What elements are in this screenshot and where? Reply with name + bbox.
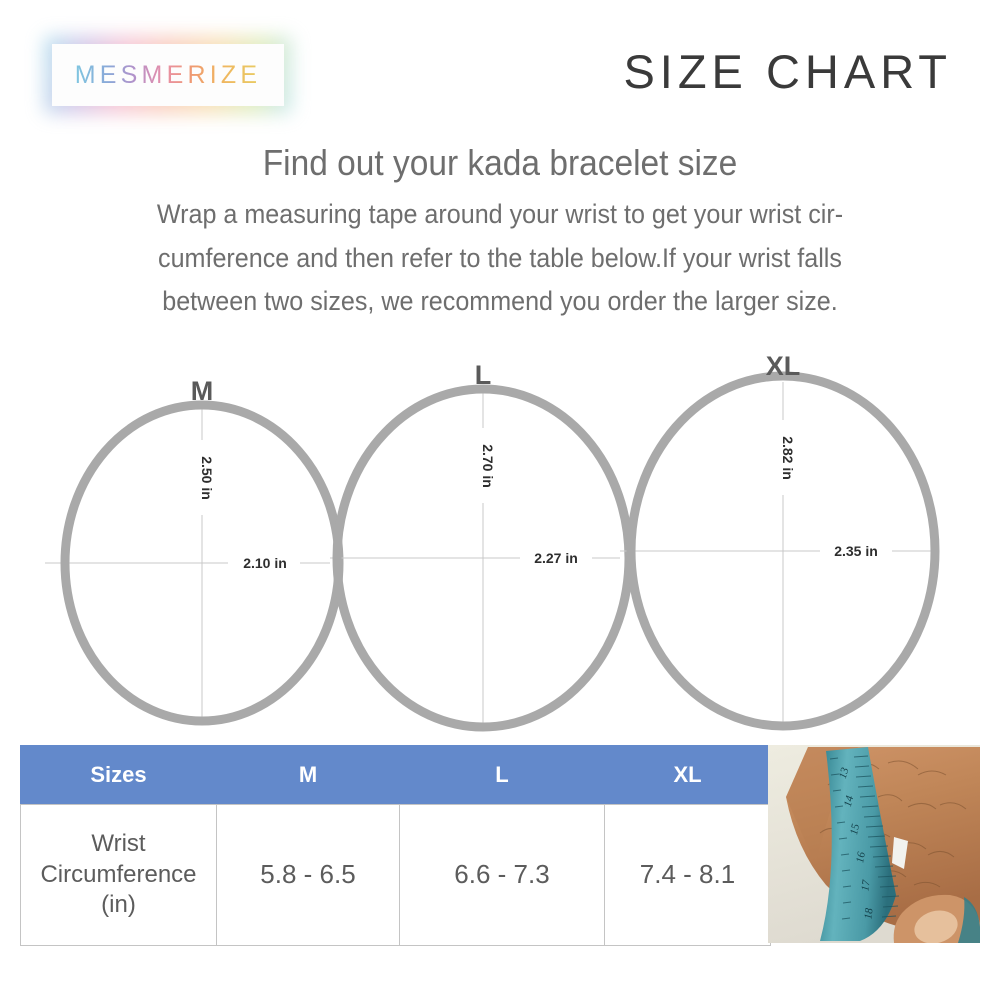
table-header-sizes: Sizes [21, 746, 217, 805]
tape-number-18: 18 [862, 907, 875, 920]
table-row: Wrist Circumference (in) 5.8 - 6.5 6.6 -… [21, 805, 771, 946]
table-header-m: M [217, 746, 400, 805]
cell-m-range: 5.8 - 6.5 [217, 805, 400, 946]
xl-width-label: 2.35 in [834, 543, 878, 559]
oval-diagram-l: L 2.70 in 2.27 in [330, 360, 629, 727]
wrist-photo-illustration: 13 14 15 16 17 18 [768, 745, 980, 943]
m-width-label: 2.10 in [243, 555, 287, 571]
table-header-row: Sizes M L XL [21, 746, 771, 805]
l-size-label: L [475, 360, 492, 390]
table-header-xl: XL [605, 746, 771, 805]
xl-height-label: 2.82 in [780, 436, 796, 480]
table-header-l: L [400, 746, 605, 805]
oval-diagram-xl: XL 2.82 in 2.35 in [620, 351, 935, 730]
m-size-label: M [191, 376, 214, 406]
row-label-line-2: Circumference [22, 860, 215, 891]
l-height-label: 2.70 in [480, 444, 496, 488]
oval-diagram-m: M 2.50 in 2.10 in [45, 376, 339, 722]
xl-size-label: XL [766, 351, 801, 381]
size-table: Sizes M L XL Wrist Circumference (in) 5.… [20, 745, 771, 946]
cell-l-range: 6.6 - 7.3 [400, 805, 605, 946]
wrist-measurement-photo: 13 14 15 16 17 18 [768, 745, 980, 943]
tape-number-17: 17 [859, 879, 872, 892]
row-label-line-1: Wrist [22, 829, 215, 860]
m-height-label: 2.50 in [199, 456, 215, 500]
cell-xl-range: 7.4 - 8.1 [605, 805, 771, 946]
l-width-label: 2.27 in [534, 550, 578, 566]
row-label-line-3: (in) [22, 890, 215, 921]
row-label-wrist-circumference: Wrist Circumference (in) [21, 805, 217, 946]
